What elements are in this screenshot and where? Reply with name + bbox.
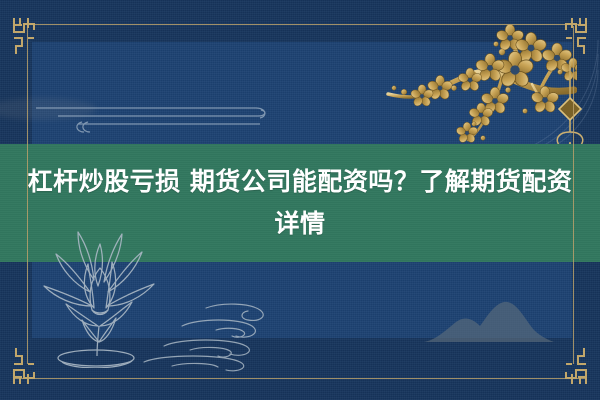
- fret-corner-bottom-left-icon: [10, 346, 52, 388]
- poster-canvas: 杠杆炒股亏损 期货公司能配资吗？了解期货配资 详情: [0, 0, 600, 400]
- mountain-silhouette: [424, 296, 554, 349]
- frame-line-right: [573, 26, 574, 364]
- page-title-line-1: 杠杆炒股亏损 期货公司能配资吗？了解期货配资: [22, 161, 578, 203]
- frame-line-top: [30, 24, 586, 25]
- ruyi-sweep-lines: [28, 88, 288, 145]
- frame-line-left: [27, 26, 28, 364]
- fret-corner-top-left-icon: [10, 14, 52, 56]
- water-ripples: [120, 300, 300, 385]
- fret-corner-bottom-right-icon: [548, 346, 590, 388]
- frame-line-bottom: [14, 378, 586, 379]
- fret-corner-top-right-icon: [548, 14, 590, 56]
